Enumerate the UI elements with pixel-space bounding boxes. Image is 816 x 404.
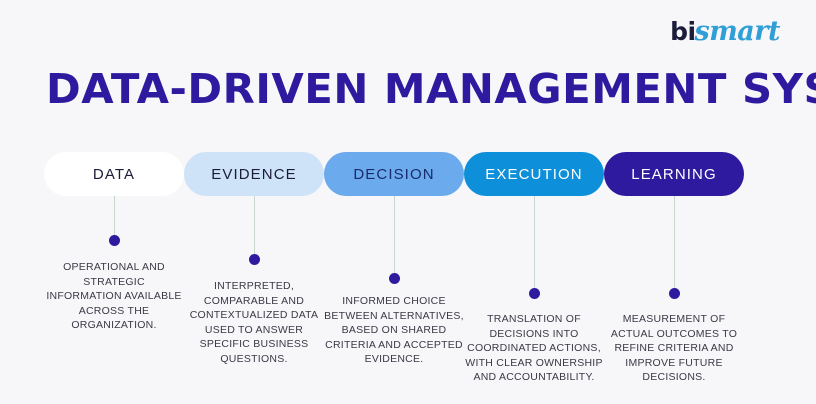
stage-pill-decision[interactable]: DECISION	[324, 152, 464, 196]
stage-dot-marker	[389, 273, 400, 284]
stage-pill-label: LEARNING	[631, 166, 717, 183]
stage-pill-learning[interactable]: LEARNING	[604, 152, 744, 196]
stage-pill-label: DECISION	[353, 166, 434, 183]
stage-column-learning: LEARNINGMEASUREMENT OF ACTUAL OUTCOMES T…	[604, 0, 744, 404]
stage-column-decision: DECISIONINFORMED CHOICE BETWEEN ALTERNAT…	[324, 0, 464, 404]
stage-column-evidence: EVIDENCEINTERPRETED, COMPARABLE AND CONT…	[184, 0, 324, 404]
stage-dot-marker	[109, 235, 120, 246]
stage-pill-label: EXECUTION	[485, 166, 582, 183]
stage-pill-data[interactable]: DATA	[44, 152, 184, 196]
stage-pill-execution[interactable]: EXECUTION	[464, 152, 604, 196]
stage-description: MEASUREMENT OF ACTUAL OUTCOMES TO REFINE…	[604, 312, 744, 385]
connector-line	[534, 196, 535, 288]
stage-description: TRANSLATION OF DECISIONS INTO COORDINATE…	[464, 312, 604, 385]
stage-column-execution: EXECUTIONTRANSLATION OF DECISIONS INTO C…	[464, 0, 604, 404]
stage-dot-marker	[669, 288, 680, 299]
stage-pill-label: DATA	[93, 166, 135, 183]
connector-line	[114, 196, 115, 235]
stage-flow: DATAOPERATIONAL AND STRATEGIC INFORMATIO…	[0, 0, 816, 404]
connector-line	[254, 196, 255, 254]
connector-line	[674, 196, 675, 288]
stage-description: INTERPRETED, COMPARABLE AND CONTEXTUALIZ…	[184, 279, 324, 366]
stage-dot-marker	[249, 254, 260, 265]
stage-dot-marker	[529, 288, 540, 299]
stage-description: OPERATIONAL AND STRATEGIC INFORMATION AV…	[44, 260, 184, 333]
stage-description: INFORMED CHOICE BETWEEN ALTERNATIVES, BA…	[324, 294, 464, 367]
stage-column-data: DATAOPERATIONAL AND STRATEGIC INFORMATIO…	[44, 0, 184, 404]
stage-pill-evidence[interactable]: EVIDENCE	[184, 152, 324, 196]
connector-line	[394, 196, 395, 273]
stage-pill-label: EVIDENCE	[211, 166, 297, 183]
